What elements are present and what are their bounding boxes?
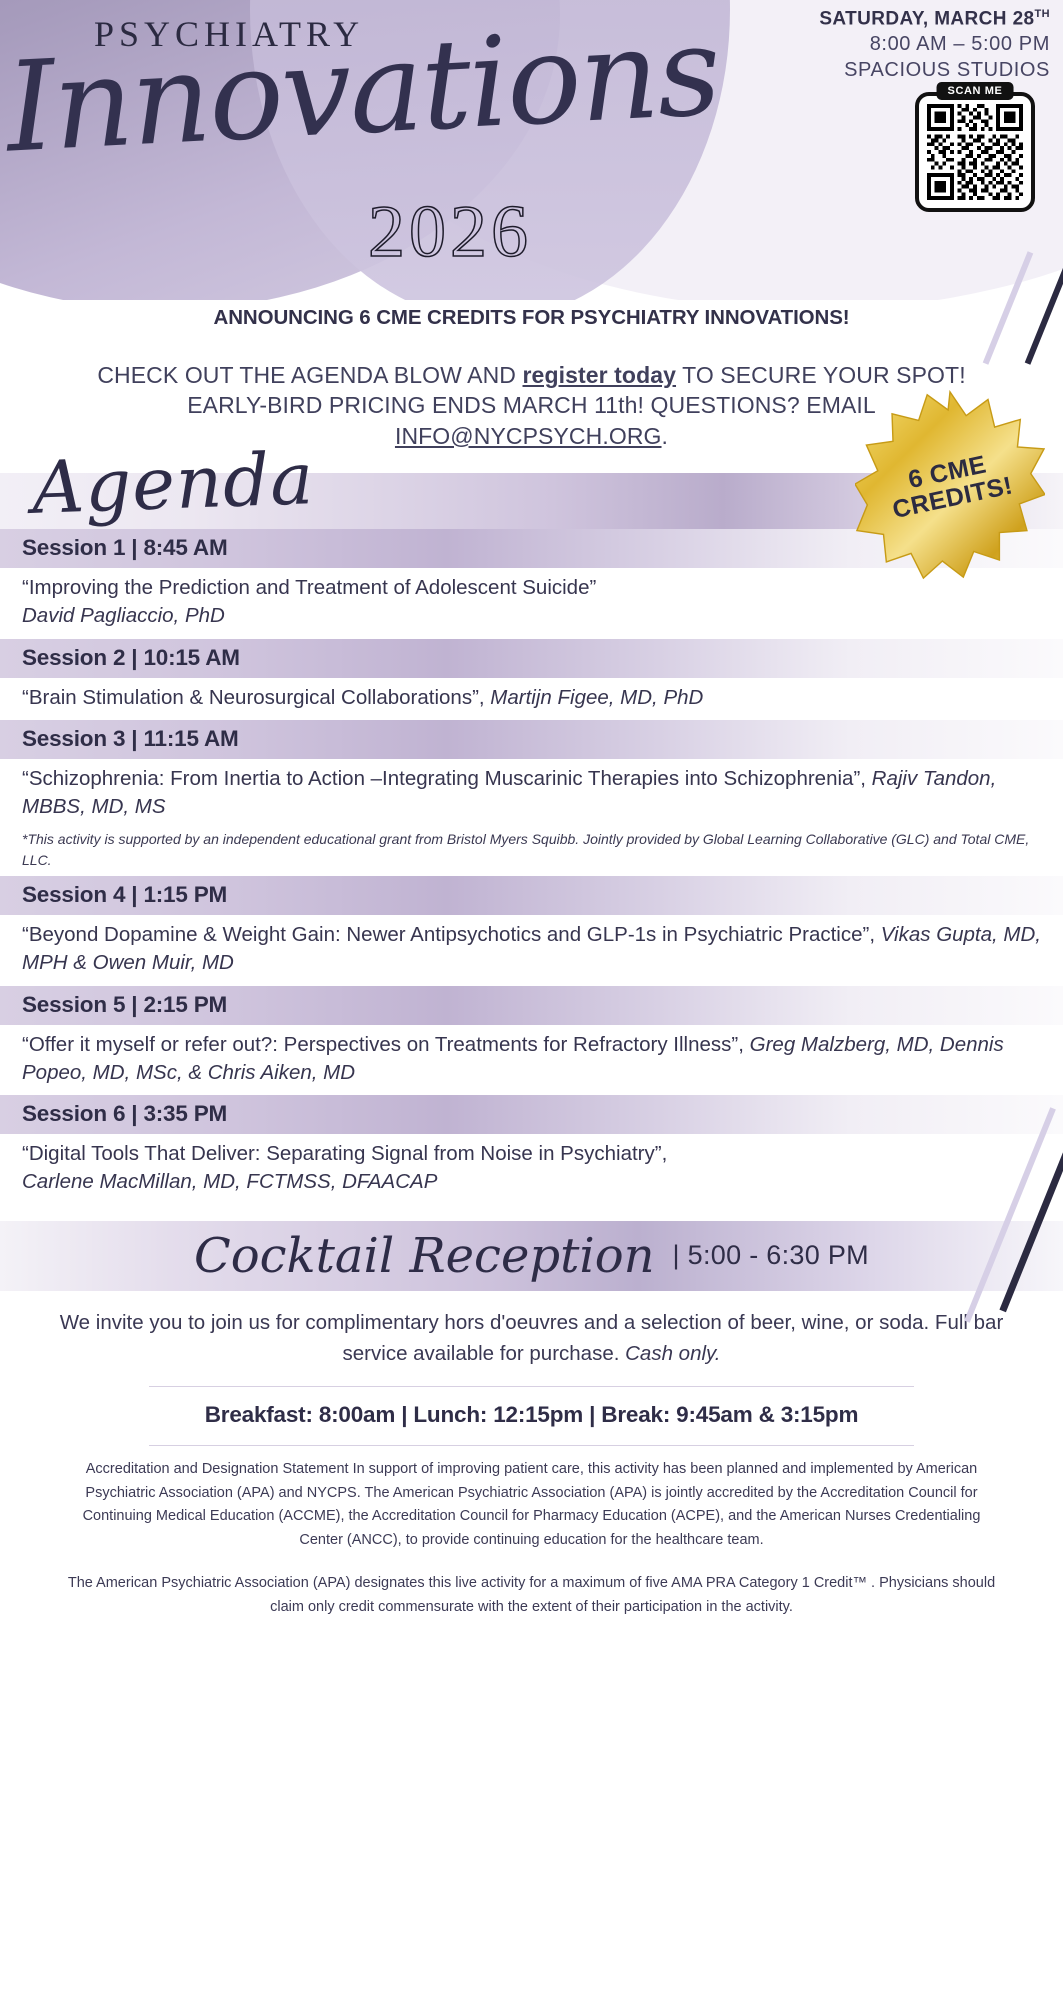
sessions-list: Session 1 | 8:45 AM “Improving the Predi…: [0, 529, 1063, 1205]
event-date-text: SATURDAY, MARCH 28: [819, 8, 1034, 29]
session-title: “Beyond Dopamine & Weight Gain: Newer An…: [22, 923, 875, 946]
session-header: Session 2 | 10:15 AM: [0, 639, 1063, 678]
session-row: Session 4 | 1:15 PM “Beyond Dopamine & W…: [0, 876, 1063, 986]
divider-top: [149, 1386, 914, 1387]
session-header: Session 4 | 1:15 PM: [0, 876, 1063, 915]
session-speakers: Martijn Figee, MD, PhD: [490, 686, 703, 709]
starburst-icon: [855, 390, 1045, 580]
brand-script-title: Innovations: [3, 9, 721, 170]
event-meta: SATURDAY, MARCH 28TH 8:00 AM – 5:00 PM S…: [819, 8, 1050, 82]
event-date-ordinal: TH: [1035, 8, 1050, 20]
reception-description: We invite you to join us for complimenta…: [0, 1291, 1063, 1369]
hero-section: PSYCHIATRY Innovations 2026 SATURDAY, MA…: [0, 0, 1063, 300]
session-details: “Digital Tools That Deliver: Separating …: [0, 1134, 1063, 1205]
session-details: “Offer it myself or refer out?: Perspect…: [0, 1025, 1063, 1096]
session-header: Session 5 | 2:15 PM: [0, 986, 1063, 1025]
session-title: “Schizophrenia: From Inertia to Action –…: [22, 767, 866, 790]
event-venue: SPACIOUS STUDIOS: [819, 59, 1050, 82]
reception-time: | 5:00 - 6:30 PM: [673, 1240, 869, 1271]
session-header: Session 3 | 11:15 AM: [0, 720, 1063, 759]
session-header: Session 6 | 3:35 PM: [0, 1095, 1063, 1134]
session-speakers: Carlene MacMillan, MD, FCTMSS, DFAACAP: [22, 1170, 437, 1193]
session-footnote: *This activity is supported by an indepe…: [0, 829, 1063, 876]
event-time: 8:00 AM – 5:00 PM: [819, 33, 1050, 56]
session-row: Session 3 | 11:15 AM “Schizophrenia: Fro…: [0, 720, 1063, 876]
qr-code-container[interactable]: SCAN ME: [915, 92, 1035, 212]
session-row: Session 5 | 2:15 PM “Offer it myself or …: [0, 986, 1063, 1096]
session-title: “Improving the Prediction and Treatment …: [22, 576, 596, 599]
poster-root: PSYCHIATRY Innovations 2026 SATURDAY, MA…: [0, 0, 1063, 2000]
session-title: “Brain Stimulation & Neurosurgical Colla…: [22, 686, 485, 709]
accreditation-paragraph-1: Accreditation and Designation Statement …: [62, 1458, 1001, 1552]
event-date: SATURDAY, MARCH 28TH: [819, 8, 1050, 30]
qr-code-icon: [927, 104, 1023, 200]
session-row: Session 6 | 3:35 PM “Digital Tools That …: [0, 1095, 1063, 1205]
contact-email-link[interactable]: INFO@NYCPSYCH.ORG: [395, 423, 662, 449]
reception-band: Cocktail Reception | 5:00 - 6:30 PM: [0, 1221, 1063, 1291]
reception-description-text: We invite you to join us for complimenta…: [60, 1311, 1004, 1365]
accreditation-paragraph-2: The American Psychiatric Association (AP…: [62, 1572, 1001, 1619]
brand-year: 2026: [368, 190, 532, 275]
blurb-text-tail: .: [662, 423, 669, 449]
meal-times: Breakfast: 8:00am | Lunch: 12:15pm | Bre…: [0, 1402, 1063, 1428]
reception-title: Cocktail Reception: [194, 1228, 654, 1284]
scan-me-label: SCAN ME: [937, 82, 1014, 100]
reception-cash-only-note: Cash only.: [625, 1342, 720, 1365]
session-row: Session 2 | 10:15 AM “Brain Stimulation …: [0, 639, 1063, 720]
session-details: “Beyond Dopamine & Weight Gain: Newer An…: [0, 915, 1063, 986]
announcement-headline: ANNOUNCING 6 CME CREDITS FOR PSYCHIATRY …: [0, 306, 1063, 330]
blurb-text-lead: CHECK OUT THE AGENDA BLOW AND: [97, 362, 522, 388]
agenda-title: Agenda: [31, 436, 316, 530]
session-title: “Digital Tools That Deliver: Separating …: [22, 1142, 667, 1165]
session-details: “Schizophrenia: From Inertia to Action –…: [0, 759, 1063, 830]
session-details: “Brain Stimulation & Neurosurgical Colla…: [0, 678, 1063, 720]
register-today-link[interactable]: register today: [523, 362, 677, 388]
accreditation-block: Accreditation and Designation Statement …: [0, 1446, 1063, 1619]
session-title: “Offer it myself or refer out?: Perspect…: [22, 1033, 744, 1056]
cme-credits-badge: 6 CME CREDITS!: [855, 390, 1045, 580]
session-speakers: David Pagliaccio, PhD: [22, 604, 225, 627]
